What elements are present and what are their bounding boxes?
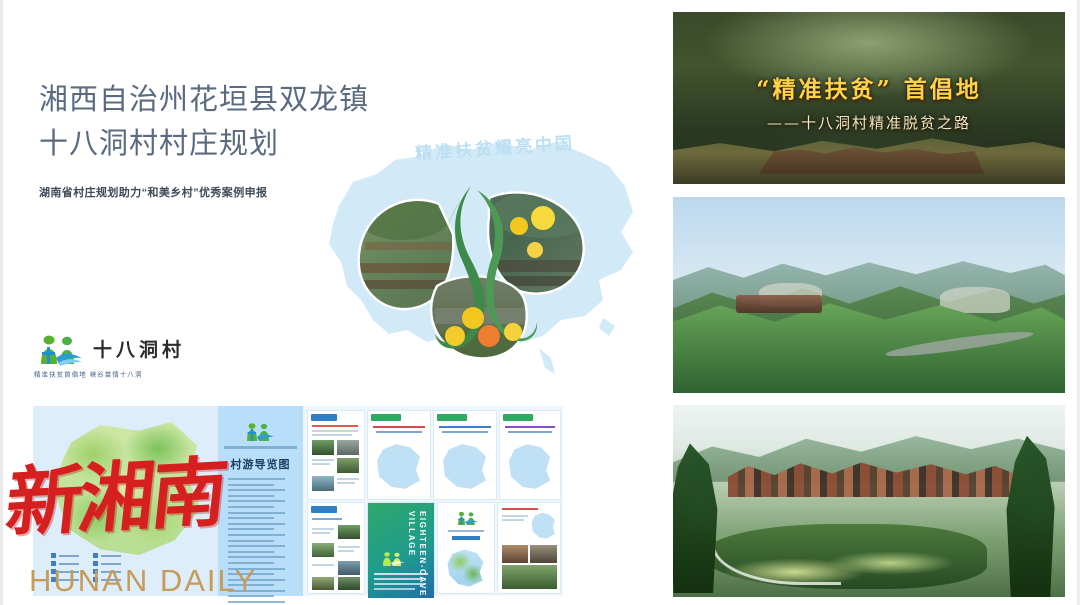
panel-text-rule xyxy=(312,532,330,534)
index-line xyxy=(228,551,274,553)
panel-text-rule xyxy=(312,528,334,530)
panel-heading-rule xyxy=(502,508,538,510)
legend-label xyxy=(101,555,121,557)
legend-label xyxy=(101,571,121,573)
panel-text-rule xyxy=(442,431,488,433)
panel-heading-rule xyxy=(373,426,425,428)
legend-label xyxy=(101,579,121,581)
green-gradient-panel: EIGHTEEN-CAVE VILLAGE xyxy=(368,503,434,598)
legend-item xyxy=(93,553,121,558)
panel-text-rule xyxy=(502,515,528,517)
legend-item xyxy=(93,561,121,566)
panel-tag xyxy=(311,414,337,421)
panel-photo xyxy=(337,440,359,455)
legend-item xyxy=(51,553,79,558)
logo-tagline: 精准扶贫首倡地 峡谷苗情十八洞 xyxy=(34,370,143,379)
panel-text-rule xyxy=(448,530,484,532)
index-line xyxy=(228,517,274,519)
index-line xyxy=(228,556,285,558)
legend-swatch xyxy=(93,569,98,574)
brochure-map-panel xyxy=(33,406,218,596)
legend-label xyxy=(59,579,79,581)
panel-text-rule xyxy=(312,564,334,566)
index-line xyxy=(228,601,285,603)
legend-item xyxy=(51,577,79,582)
village-logo: 十八洞村 精准扶贫首倡地 峡谷苗情十八洞 xyxy=(33,334,223,390)
legend-item xyxy=(93,577,121,582)
panel-tag xyxy=(371,414,401,421)
index-line xyxy=(228,562,274,564)
panel-text-rule xyxy=(337,478,359,480)
panel-text-rule xyxy=(312,430,358,432)
green-panel-rule xyxy=(374,578,422,580)
panel-photo xyxy=(530,545,557,563)
index-line xyxy=(228,495,274,497)
legend-swatch xyxy=(93,553,98,558)
photo-aerial-village xyxy=(673,197,1065,393)
index-line xyxy=(228,512,285,514)
banner-subheading: ——十八洞村精准脱贫之路 xyxy=(673,112,1065,133)
legend-item xyxy=(51,569,79,574)
index-line xyxy=(228,484,274,486)
panel-heading-rule xyxy=(505,426,555,428)
panel-text-rule xyxy=(337,482,355,484)
panel-text-rule xyxy=(508,431,552,433)
index-line xyxy=(228,579,285,581)
aerial-village-cluster xyxy=(736,295,822,313)
panel-overview xyxy=(307,410,365,500)
brochure-analysis-panels: EIGHTEEN-CAVE VILLAGE xyxy=(303,406,563,596)
panel-logo-icon xyxy=(455,511,479,526)
index-line xyxy=(228,540,274,542)
legend-swatch xyxy=(93,577,98,582)
brochure-map-legend xyxy=(51,553,121,582)
brochure-spread: 村游导览图 xyxy=(33,406,563,596)
china-map-graphic: 精准扶贫耀亮中国 xyxy=(303,120,663,390)
legend-column-1 xyxy=(51,553,79,582)
index-line xyxy=(228,523,285,525)
legend-item xyxy=(51,561,79,566)
panel-photo-grid xyxy=(497,502,561,594)
logo-wordmark: 十八洞村 xyxy=(93,335,185,362)
panel-photo xyxy=(312,543,334,557)
panel-photo xyxy=(502,565,557,589)
panel-mini-map xyxy=(440,441,490,493)
panel-text-rule xyxy=(312,459,334,461)
banner-heading: “精准扶贫” 首倡地 xyxy=(673,70,1065,104)
panel-location-analysis xyxy=(367,410,431,500)
photo-village-terraces xyxy=(673,405,1065,597)
legend-swatch xyxy=(51,577,56,582)
village-logo-icon xyxy=(36,334,88,366)
panel-text-rule xyxy=(312,434,352,436)
panel-mini-map xyxy=(506,441,554,493)
panel-green-cover: EIGHTEEN-CAVE VILLAGE xyxy=(367,502,435,594)
panel-subtitle-rule xyxy=(452,536,480,540)
photo-banner-slogan: “精准扶贫” 首倡地 ——十八洞村精准脱贫之路 xyxy=(673,12,1065,184)
legend-swatch xyxy=(51,561,56,566)
panel-text-rule xyxy=(376,431,422,433)
panel-tag xyxy=(503,414,533,421)
green-panel-rule xyxy=(374,573,428,575)
index-line xyxy=(228,534,285,536)
panel-heading-rule xyxy=(312,425,358,427)
legend-label xyxy=(101,563,121,565)
legend-item xyxy=(93,569,121,574)
green-panel-rule xyxy=(374,588,415,590)
panel-photo xyxy=(312,577,334,590)
legend-swatch xyxy=(93,561,98,566)
index-line xyxy=(228,584,274,586)
index-line xyxy=(228,489,285,491)
panel-photo xyxy=(502,545,528,563)
panel-photo xyxy=(312,476,334,491)
index-line xyxy=(228,506,274,508)
panel-mini-map xyxy=(530,511,557,541)
panel-photo xyxy=(338,561,360,575)
butterfly-photo-collage xyxy=(343,168,603,368)
green-panel-rule xyxy=(374,583,425,585)
panel-mini-map xyxy=(374,441,424,493)
panel-text-rule xyxy=(338,550,354,552)
panel-text-rule xyxy=(338,546,360,548)
legend-column-2 xyxy=(93,553,121,582)
panel-resource-list xyxy=(307,502,365,594)
legend-swatch xyxy=(51,553,56,558)
green-panel-logo-icon xyxy=(380,551,406,567)
index-line xyxy=(228,478,285,480)
index-line xyxy=(228,595,274,597)
index-line xyxy=(228,528,274,530)
index-line xyxy=(228,500,285,502)
slide-canvas: 湘西自治州花垣县双龙镇 十八洞村村庄规划 湖南省村庄规划助力“和美乡村”优秀案例… xyxy=(0,0,1080,605)
panel-tourism-analysis xyxy=(499,410,561,500)
panel-text-rule xyxy=(312,463,330,465)
panel-village-map xyxy=(446,547,486,589)
brochure-subtitle-rule xyxy=(224,446,297,449)
legend-label xyxy=(59,571,79,573)
panel-landscape-analysis xyxy=(433,410,497,500)
panel-photo xyxy=(312,440,334,455)
brochure-logo-icon xyxy=(244,422,276,442)
legend-label xyxy=(59,563,79,565)
panel-tag xyxy=(437,414,467,421)
index-line xyxy=(228,545,285,547)
title-line-1: 湘西自治州花垣县双龙镇 xyxy=(39,78,419,122)
brochure-illustrated-map xyxy=(45,416,207,564)
brochure-cover-panel: 村游导览图 xyxy=(218,406,303,596)
brochure-index-list xyxy=(228,478,294,605)
panel-heading-rule xyxy=(439,426,491,428)
panel-text-rule xyxy=(502,519,524,521)
index-line xyxy=(228,573,274,575)
legend-label xyxy=(59,555,79,557)
panel-village-cover xyxy=(437,502,495,594)
index-line xyxy=(228,568,285,570)
panel-tag xyxy=(311,506,337,513)
panel-photo xyxy=(338,577,360,590)
brochure-map-title: 村游导览图 xyxy=(218,456,303,472)
spacer xyxy=(434,503,436,505)
legend-swatch xyxy=(51,569,56,574)
panel-photo xyxy=(337,458,359,473)
panel-text-rule xyxy=(312,518,342,520)
index-line xyxy=(228,590,285,592)
panel-photo xyxy=(338,525,360,539)
